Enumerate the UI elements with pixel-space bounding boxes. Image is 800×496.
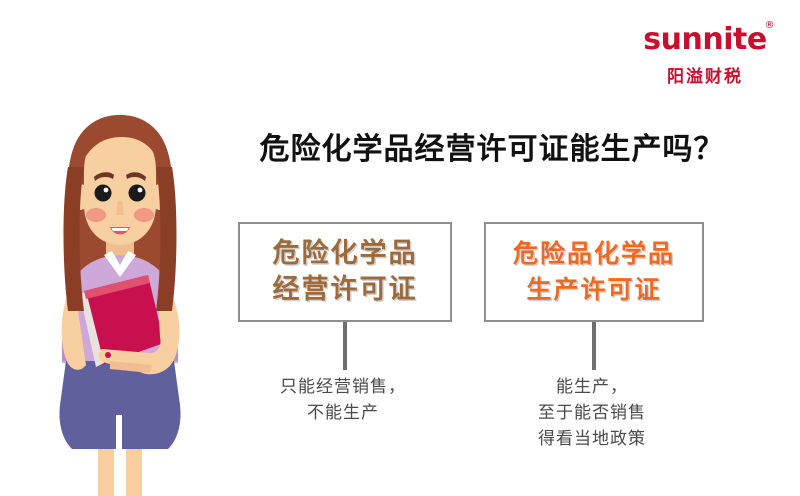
eye-right-icon: [129, 185, 146, 202]
brand-logo: sunnite ® 阳溢财税: [640, 24, 780, 90]
logo-chinese-name: 阳溢财税: [640, 62, 770, 87]
cheek-right-icon: [134, 208, 154, 222]
license-card-operating: 危险化学品 经营许可证: [238, 222, 452, 322]
connector-line-right: [592, 322, 596, 370]
card-left-line-1: 危险化学品: [273, 236, 418, 272]
connector-line-left: [343, 322, 347, 370]
card-right-line-1: 危险品化学品: [513, 236, 675, 272]
logo-wordmark-text: sunnite: [643, 22, 766, 57]
eye-highlight-left-icon: [104, 188, 109, 193]
caption-right-line-3: 得看当地政策: [492, 426, 692, 452]
license-card-production: 危险品化学品 生产许可证: [484, 222, 704, 322]
eye-left-icon: [95, 185, 112, 202]
teeth-icon: [112, 228, 129, 231]
caption-operating-license: 只能经营销售， 不能生产: [243, 374, 443, 426]
illustration-woman-holding-book: [40, 105, 200, 496]
caption-right-line-1: 能生产，: [492, 374, 692, 400]
caption-production-license: 能生产， 至于能否销售 得看当地政策: [492, 374, 692, 452]
eye-highlight-right-icon: [138, 188, 143, 193]
page-title: 危险化学品经营许可证能生产吗？: [232, 124, 752, 168]
card-left-line-2: 经营许可证: [273, 272, 418, 308]
logo-wordmark: sunnite ®: [640, 24, 770, 56]
caption-left-line-1: 只能经营销售，: [243, 374, 443, 400]
poster-canvas: sunnite ® 阳溢财税 危险化学品经营许可证能生产吗？ 危险化学品 经营许…: [0, 0, 800, 496]
registered-trademark-icon: ®: [765, 21, 775, 31]
caption-right-line-2: 至于能否销售: [492, 400, 692, 426]
caption-left-line-2: 不能生产: [243, 400, 443, 426]
card-right-line-2: 生产许可证: [526, 272, 661, 308]
cheek-left-icon: [86, 208, 106, 222]
skirt-slit-icon: [116, 415, 122, 449]
